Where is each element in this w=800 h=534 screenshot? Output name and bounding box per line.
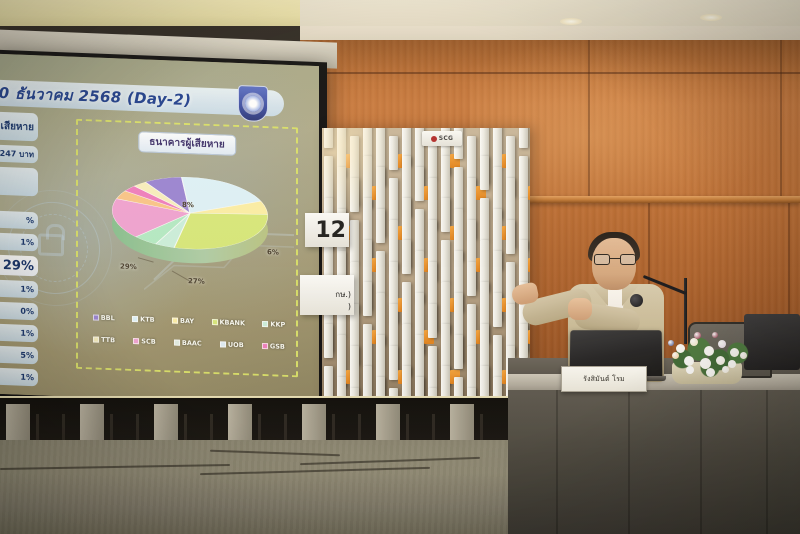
partition-accent [528, 330, 530, 344]
speaker-name-plate: รังสิมันต์ โรม [561, 366, 647, 392]
thai-sign-line-2: ) [300, 301, 351, 313]
stage-column [6, 404, 30, 444]
wall-seam [780, 40, 782, 198]
partition-slat [467, 304, 476, 347]
thai-info-sign: กษ.) ) [300, 275, 354, 315]
flower-bloom [704, 346, 714, 356]
slide-stats-panel: เสียหาย 247 บาท % 1% 29% 1% 0% 1% 5% 1% [0, 110, 38, 391]
police-badge-icon [238, 85, 268, 122]
flower-bloom [716, 356, 725, 365]
stat-pill: เสียหาย [0, 110, 38, 141]
partition-slat [519, 156, 528, 199]
legend-label: BAY [180, 317, 194, 326]
lock-icon [38, 233, 64, 256]
desk-skirt-fold [700, 390, 702, 534]
pie-chart: 8% 6% 29% 27% [104, 158, 276, 283]
legend-swatch [172, 317, 178, 323]
wall-seam [300, 72, 800, 74]
legend-item: TTB [93, 335, 115, 344]
stage-column [80, 404, 104, 444]
flower-bloom [712, 332, 718, 338]
legend-swatch [220, 341, 226, 347]
speaker-name-text: รังสิมันต์ โรม [583, 374, 625, 385]
stat-pill: 0% [0, 300, 38, 320]
legend-swatch [93, 336, 99, 342]
slide-header-title: 20 ธันวาคม 2568 (Day-2) [0, 80, 191, 112]
legend-item: BAY [172, 316, 194, 325]
flower-bloom [686, 366, 694, 374]
partition-slat [493, 335, 502, 378]
room-number-sign: 12 [305, 213, 349, 247]
partition-slat [428, 346, 437, 389]
legend-item: SCB [133, 337, 155, 346]
partition-slat [480, 366, 489, 400]
partition-slat [428, 304, 437, 338]
legend-swatch [174, 340, 180, 346]
legend-label: KKP [270, 320, 285, 329]
partition-slat [506, 220, 515, 254]
legend-item: GSB [262, 342, 285, 351]
presentation-slide: 20 ธันวาคม 2568 (Day-2) เสียหาย 247 บาท … [0, 54, 319, 406]
legend-swatch [133, 338, 139, 344]
partition-slat [467, 262, 476, 296]
stat-pill: % [0, 209, 38, 229]
legend-label: BAAC [182, 339, 202, 348]
legend-label: GSB [270, 342, 285, 351]
flower-bloom [722, 366, 729, 373]
partition-slat [376, 251, 385, 294]
legend-label: KTB [140, 315, 154, 324]
partition-slat [519, 128, 528, 148]
stat-pill: 5% [0, 344, 38, 364]
stat-pill: 247 บาท [0, 143, 38, 163]
partition-slat [415, 167, 424, 201]
flower-bloom [694, 332, 701, 339]
flower-bloom [706, 368, 715, 377]
chart-legend: BBL KTB BAY [84, 313, 294, 365]
partition-accent [528, 186, 530, 200]
flower-bloom [672, 352, 679, 359]
partition-slat [324, 324, 333, 358]
partition-light-glow [322, 128, 392, 218]
flower-bloom [668, 340, 674, 346]
partition-slat [389, 346, 398, 380]
flower-bloom [728, 360, 736, 368]
legend-label: KBANK [220, 318, 246, 327]
stage-column [302, 404, 326, 444]
scg-logo: SCG [422, 131, 462, 146]
projection-screen: 20 ธันวาคม 2568 (Day-2) เสียหาย 247 บาท … [0, 50, 327, 413]
downlight-icon [560, 18, 582, 25]
partition-slat [402, 240, 411, 274]
legend-item: KKP [262, 320, 285, 329]
legend-label: TTB [101, 336, 115, 345]
downlight-icon [700, 14, 722, 21]
stat-pill: 1% [0, 366, 38, 386]
legend-row: BBL KTB BAY [84, 313, 294, 329]
pie-data-label: 29% [120, 262, 137, 271]
legend-row: TTB SCB BAAC [84, 335, 294, 351]
legend-swatch [93, 314, 99, 320]
wall-seam [588, 40, 590, 198]
stage-column [154, 404, 178, 444]
stage-column [228, 404, 252, 444]
stat-pill-highlight: 29% [0, 253, 38, 276]
stat-pill [0, 165, 38, 196]
flower-bloom [730, 348, 739, 357]
legend-item: UOB [220, 340, 244, 349]
room-number-text: 12 [315, 218, 346, 243]
partition-slat [350, 220, 359, 263]
microphone-icon [630, 294, 643, 307]
legend-item: BAAC [174, 339, 202, 348]
legend-swatch [262, 343, 268, 349]
partition-slat [441, 198, 450, 232]
desk-skirt-fold [766, 390, 768, 534]
legend-label: SCB [141, 337, 155, 346]
decorative-slat-partition: SCG [322, 128, 530, 418]
legend-item: KTB [132, 315, 154, 324]
desk-skirt [508, 390, 800, 534]
partition-slat [441, 240, 450, 283]
chart-region: ธนาคารผู้เสียหาย 8% 6% 29% 27% [76, 119, 298, 378]
stat-pill: 1% [0, 231, 38, 251]
legend-swatch [262, 321, 268, 327]
partition-slat [519, 324, 528, 358]
stat-pill: 1% [0, 322, 38, 342]
glasses-bridge [610, 258, 620, 259]
glasses-lens [620, 254, 636, 265]
desk-skirt-fold [556, 390, 558, 534]
partition-accent [528, 258, 530, 272]
partition-slat [493, 293, 502, 327]
speaker-right-hand-pointing [568, 298, 592, 320]
partition-slat [415, 209, 424, 252]
flower-bloom [690, 338, 698, 346]
chart-title: ธนาคารผู้เสียหาย [138, 131, 236, 156]
pie-data-label: 6% [267, 248, 279, 256]
desk-skirt-fold [628, 390, 630, 534]
partition-slat [402, 282, 411, 325]
thai-sign-line-1: กษ.) [300, 289, 351, 301]
partition-slat [454, 167, 463, 210]
legend-item: BBL [93, 313, 115, 322]
partition-slat [363, 282, 372, 316]
legend-label: BBL [101, 314, 115, 323]
legend-swatch [212, 319, 218, 325]
partition-slat [363, 324, 372, 367]
conference-room-scene: 20 ธันวาคม 2568 (Day-2) เสียหาย 247 บาท … [0, 0, 800, 534]
pie-leader-line [138, 257, 154, 262]
flower-bloom [684, 356, 694, 366]
flower-bloom [718, 340, 726, 348]
scg-logo-text: SCG [439, 135, 454, 142]
stage-column [376, 404, 400, 444]
stat-pill: 1% [0, 278, 38, 298]
legend-swatch [132, 316, 138, 322]
partition-slat [480, 156, 489, 190]
eyeglasses-icon [594, 254, 636, 265]
glasses-lens [594, 254, 610, 265]
partition-slat [454, 335, 463, 369]
flower-bloom [740, 352, 747, 359]
pie-data-label: 8% [182, 201, 194, 209]
partition-slat [480, 198, 489, 241]
scg-mark-icon [431, 136, 437, 142]
legend-item: KBANK [212, 318, 246, 327]
legend-label: UOB [228, 341, 244, 350]
projection-screen-surface: 20 ธันวาคม 2568 (Day-2) เสียหาย 247 บาท … [0, 54, 319, 406]
partition-slat [493, 128, 502, 168]
stage-column [450, 404, 474, 444]
